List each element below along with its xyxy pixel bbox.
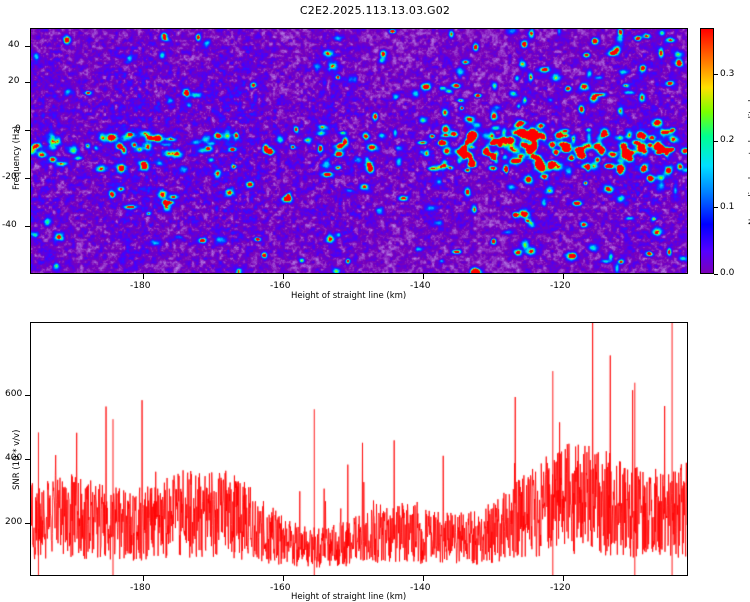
snr-xticklabel--160: -160: [270, 583, 290, 593]
spec-ytick--20: [25, 178, 30, 179]
snr-plot: [30, 322, 688, 576]
spec-xticklabel--120: -120: [550, 281, 570, 291]
spec-xtick--140: [423, 274, 424, 279]
page-title: C2E2.2025.113.13.03.G02: [0, 4, 750, 17]
snr-xtick--180: [143, 576, 144, 581]
snr-xticklabel--140: -140: [410, 583, 430, 593]
snr-xtick--140: [423, 576, 424, 581]
spec-ytick-0: [25, 130, 30, 131]
snr-yaxis-label: SNR (10 * v/v): [12, 430, 22, 490]
spectrogram-canvas: [31, 29, 687, 273]
spec-xtick--180: [143, 274, 144, 279]
colorbar-label-3: 0.3: [720, 69, 734, 79]
spectrogram-plot: [30, 28, 688, 274]
snr-ytick-600: [25, 395, 30, 396]
colorbar-tick-1: [714, 207, 718, 208]
snr-xtick--120: [563, 576, 564, 581]
colorbar-label-0: 0.0: [720, 268, 734, 278]
snr-canvas: [31, 323, 687, 575]
spec-yaxis-label: Frequency (Hz): [12, 126, 22, 190]
spec-yticklabel-20: 20: [8, 76, 19, 86]
spec-xaxis-label: Height of straight line (km): [291, 291, 406, 301]
colorbar-tick-3: [714, 74, 718, 75]
snr-xticklabel--120: -120: [550, 583, 570, 593]
spec-yticklabel--40: -40: [2, 220, 17, 230]
colorbar-label-2: 0.2: [720, 135, 734, 145]
snr-xaxis-label: Height of straight line (km): [291, 592, 406, 602]
snr-yticklabel-600: 600: [5, 389, 22, 399]
snr-ytick-200: [25, 523, 30, 524]
snr-xtick--160: [283, 576, 284, 581]
spec-xticklabel--180: -180: [130, 281, 150, 291]
spec-ytick-20: [25, 82, 30, 83]
spec-yticklabel-40: 40: [8, 40, 19, 50]
spec-xticklabel--140: -140: [410, 281, 430, 291]
spec-xticklabel--160: -160: [270, 281, 290, 291]
colorbar-tick-2: [714, 141, 718, 142]
spec-ytick--40: [25, 226, 30, 227]
colorbar-label-1: 0.1: [720, 202, 734, 212]
spec-ytick-40: [25, 46, 30, 47]
snr-yticklabel-200: 200: [5, 517, 22, 527]
colorbar: [700, 28, 714, 274]
colorbar-tick-0: [714, 274, 718, 275]
spec-xtick--160: [283, 274, 284, 279]
snr-ytick-400: [25, 459, 30, 460]
spec-xtick--120: [563, 274, 564, 279]
snr-xticklabel--180: -180: [130, 583, 150, 593]
